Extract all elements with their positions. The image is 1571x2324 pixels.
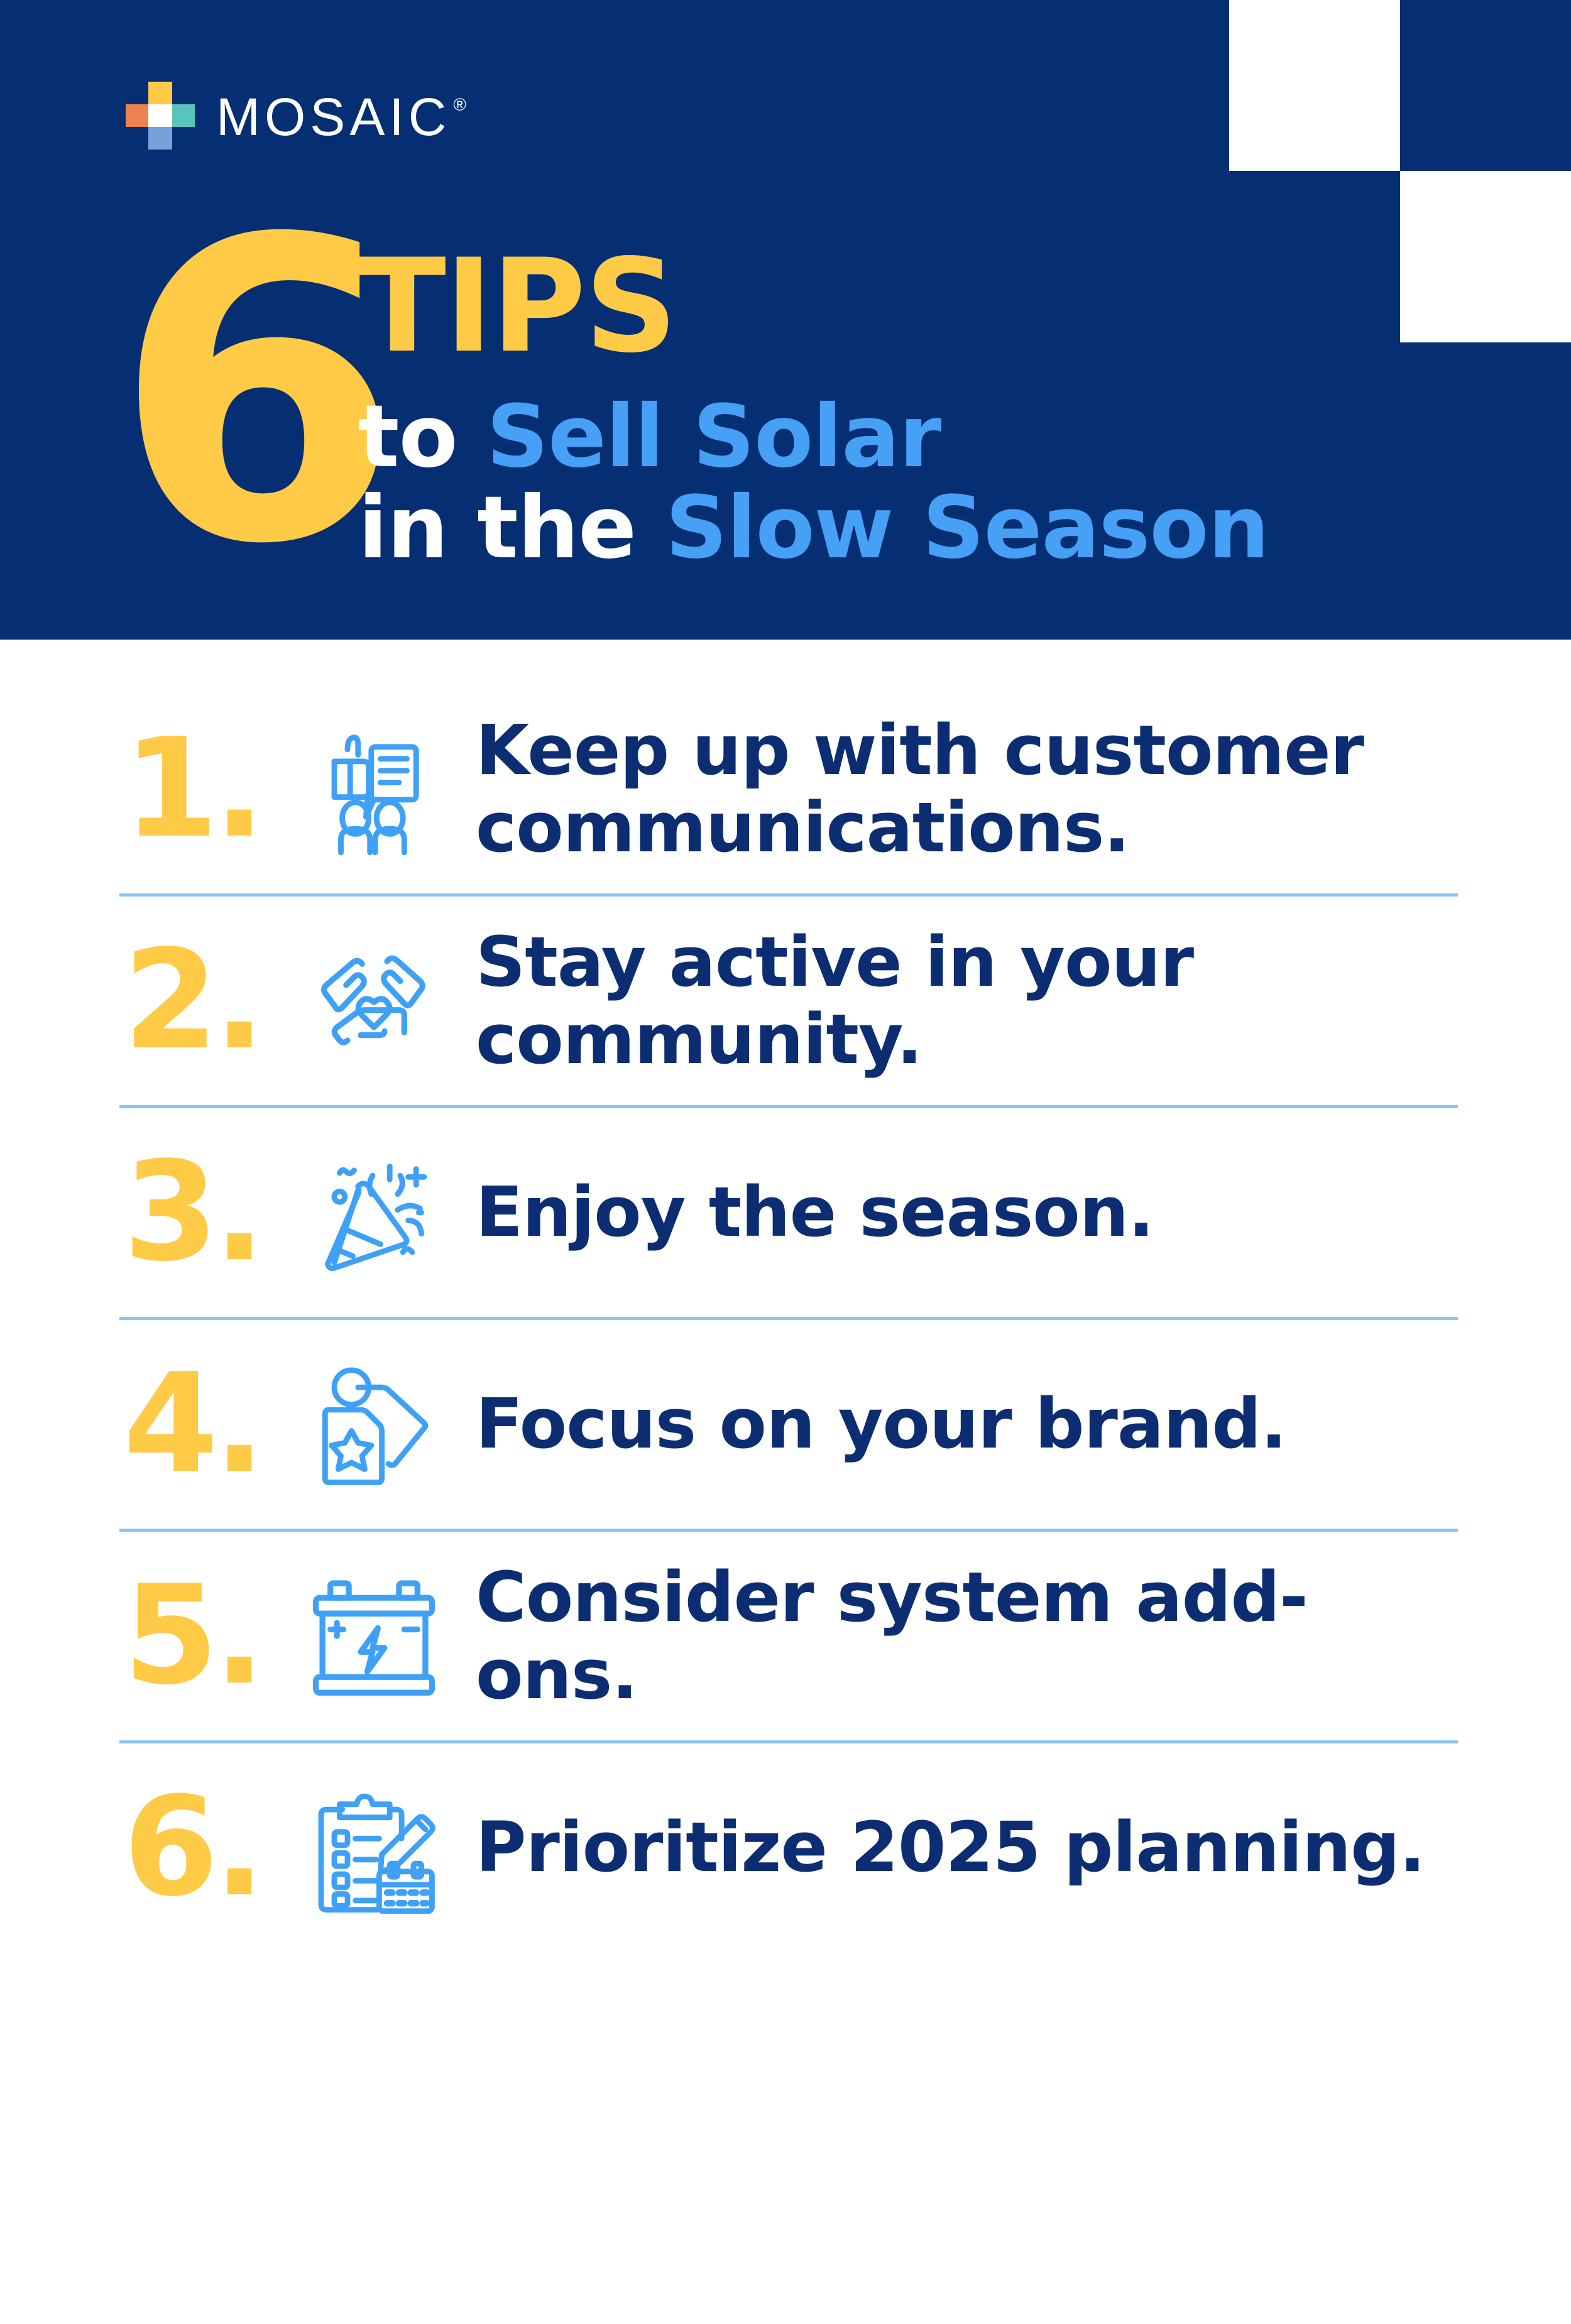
tip-number: 2. xyxy=(119,932,280,1069)
headline-big-number: 6 xyxy=(113,186,386,601)
mosaic-logo[interactable]: MOSAIC® xyxy=(126,79,464,152)
tips-list: 1. Keep up with customer communications.… xyxy=(119,685,1458,1952)
logo-tile-top xyxy=(148,82,172,104)
list-item: 1. Keep up with customer communications. xyxy=(119,685,1458,893)
tip-number: 5. xyxy=(119,1568,280,1705)
battery-lightning-icon xyxy=(280,1570,468,1702)
list-item: 5. Consider system add-ons. xyxy=(119,1532,1458,1740)
registered-trademark-symbol: ® xyxy=(453,95,466,114)
logo-tile-left xyxy=(126,104,148,127)
price-tags-star-icon xyxy=(280,1358,468,1490)
tip-text: Enjoy the season. xyxy=(468,1174,1458,1251)
headline-line-2: to Sell Solar xyxy=(358,391,1426,483)
tip-text: Consider system add-ons. xyxy=(468,1559,1458,1713)
list-item: 2. Stay active in your community. xyxy=(119,897,1458,1105)
headline-block: 6 TIPS to Sell Solar in the Slow Season xyxy=(113,246,1433,573)
tip-number: 4. xyxy=(119,1356,280,1493)
checker-square-top xyxy=(1229,0,1400,171)
hands-heart-community-icon xyxy=(280,935,468,1067)
party-popper-confetti-icon xyxy=(280,1147,468,1279)
headline-line-3-accent: Slow Season xyxy=(665,478,1269,578)
clipboard-pencil-calendar-icon xyxy=(280,1782,468,1914)
tip-text: Prioritize 2025 planning. xyxy=(468,1809,1458,1886)
headline-lines: TIPS to Sell Solar in the Slow Season xyxy=(358,246,1426,574)
thumbs-up-feedback-people-icon xyxy=(280,723,468,855)
tip-number: 1. xyxy=(119,721,280,858)
tip-text: Stay active in your community. xyxy=(468,924,1458,1078)
list-item: 4. Focus on your brand. xyxy=(119,1320,1458,1529)
mosaic-plus-mark-icon xyxy=(126,82,195,150)
tip-number: 6. xyxy=(119,1779,280,1916)
headline-line-3-prefix: in the xyxy=(358,478,665,578)
logo-wordmark-text: MOSAIC xyxy=(216,87,451,146)
logo-tile-right xyxy=(172,104,195,127)
header-banner: MOSAIC® 6 TIPS to Sell Solar in the Slow… xyxy=(0,0,1571,640)
headline-line-2-prefix: to xyxy=(358,387,486,487)
logo-wordmark: MOSAIC® xyxy=(216,90,464,143)
tip-text: Keep up with customer communications. xyxy=(468,712,1458,866)
headline-line-3: in the Slow Season xyxy=(358,483,1426,574)
tip-number: 3. xyxy=(119,1144,280,1281)
logo-tile-bottom xyxy=(148,127,172,150)
list-item: 3. Enjoy the season. xyxy=(119,1108,1458,1317)
list-item: 6. Prioritize 2025 planning. xyxy=(119,1743,1458,1952)
logo-tile-center xyxy=(148,104,172,127)
headline-line-2-accent: Sell Solar xyxy=(486,387,941,487)
tip-text: Focus on your brand. xyxy=(468,1385,1458,1463)
headline-tips-word: TIPS xyxy=(358,246,1426,368)
